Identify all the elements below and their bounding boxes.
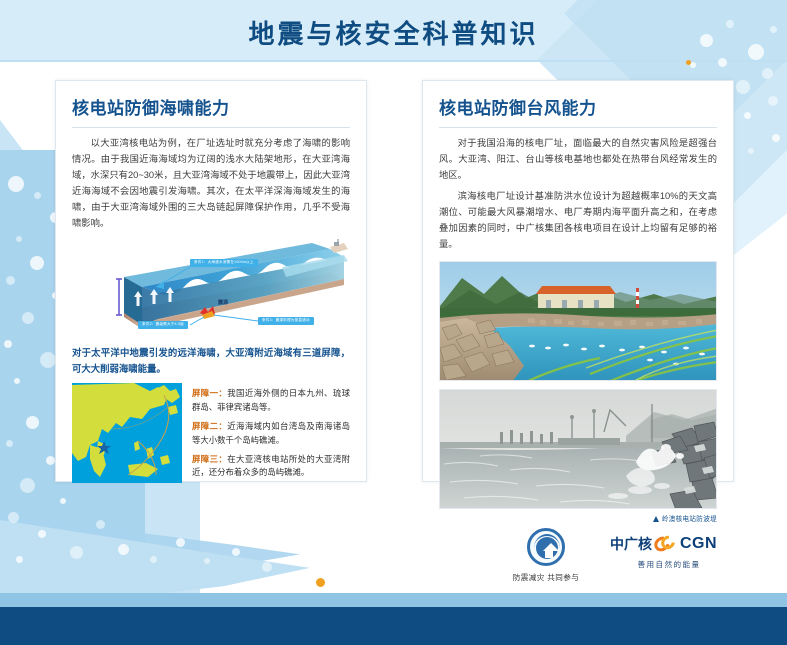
tsunami-epicentre-label: 震源: [218, 299, 228, 306]
barrier-item-1: 屏障一：我国近海外侧的日本九州、琉球群岛、菲律宾诸岛等。: [192, 387, 350, 414]
seal-slogan: 防震减灾 共同参与: [505, 572, 587, 583]
left-paragraph-1: 以大亚湾核电站为例，在厂址选址时就充分考虑了海啸的影响情况。由于我国近海海域均为…: [72, 136, 350, 232]
orange-dot-bottom: [316, 578, 325, 587]
left-highlight-text: 对于太平洋中地震引发的远洋海啸，大亚湾附近海域有三道屏障，可大大削弱海啸能量。: [72, 345, 350, 377]
barrier-2-label: 屏障二：: [192, 421, 227, 431]
photo1-svg: [440, 262, 717, 381]
poster-page: 地震与核安全科普知识 核电站防御海啸能力 以大亚湾核电站为例，在厂址选址时就充分…: [0, 0, 787, 645]
barrier-item-3: 屏障三：在大亚湾核电站所处的大亚湾附近，还分布着众多的岛屿礁滩。: [192, 453, 350, 480]
cgn-english-name: CGN: [680, 535, 717, 553]
right-title-divider: [439, 127, 717, 128]
tsunami-condition-2-label: 条件2：震级需大于6.5级: [138, 321, 188, 329]
cgn-chinese-name: 中广核: [610, 534, 652, 554]
tsunami-condition-1-label: 条件1：大海灌水深需在1000m以上: [190, 259, 258, 267]
right-paragraph-2: 滨海核电厂址设计基准防洪水位设计为超越概率10%的天文高潮位、可能最大风暴潮增水…: [439, 189, 717, 253]
cgn-logo-row: 中广核 CGN: [610, 534, 730, 554]
barrier-list: 屏障一：我国近海外侧的日本九州、琉球群岛、菲律宾诸岛等。 屏障二：近海海域内如台…: [192, 383, 350, 486]
left-panel-title: 核电站防御海啸能力: [72, 99, 350, 119]
left-title-divider: [72, 127, 350, 128]
cgn-logo: 中广核 CGN 善用自然的能量: [610, 534, 730, 570]
footer-logos: 防震减灾 共同参与 中广核 CGN 善用自然的能量: [505, 528, 730, 586]
photo2-svg: [440, 390, 717, 509]
page-title: 地震与核安全科普知识: [0, 14, 787, 51]
barrier-1-label: 屏障一：: [192, 388, 227, 398]
barrier-3-label: 屏障三：: [192, 454, 227, 464]
seal-outer-ring: [527, 528, 565, 566]
photo-caption-row: 岭澳核电站防波堤: [439, 513, 717, 523]
barrier-section: 屏障一：我国近海外侧的日本九州、琉球群岛、菲律宾诸岛等。 屏障二：近海海域内如台…: [72, 383, 350, 486]
house-icon: [543, 543, 559, 551]
east-asia-island-chain-map: [72, 383, 182, 483]
cgn-swoosh-icon: [654, 535, 678, 553]
triangle-bullet-icon: [653, 516, 659, 522]
tsunami-condition-3-label: 条件3：震源机理为垂直错动: [258, 317, 314, 325]
photo-breakwater-calm: [439, 261, 717, 381]
barrier-item-2: 屏障二：近海海域内如台湾岛及南海诸岛等大小数千个岛屿礁滩。: [192, 420, 350, 447]
panel-tsunami-defense: 核电站防御海啸能力 以大亚湾核电站为例，在厂址选址时就充分考虑了海啸的影响情况。…: [55, 80, 367, 482]
house-body-icon: [545, 551, 553, 558]
photo-caption-text: 岭澳核电站防波堤: [662, 516, 717, 523]
map-svg: [72, 383, 182, 483]
right-panel-title: 核电站防御台风能力: [439, 99, 717, 119]
photo-breakwater-storm: [439, 389, 717, 509]
tsunami-generation-diagram: 条件1：大海灌水深需在1000m以上 条件2：震级需大于6.5级 条件3：震源机…: [72, 237, 350, 339]
right-paragraph-1: 对于我国沿海的核电厂址，面临最大的自然灾害风险是超强台风。大亚湾、阳江、台山等核…: [439, 136, 717, 184]
cgn-slogan: 善用自然的能量: [610, 559, 728, 570]
earthquake-reduction-seal: 防震减灾 共同参与: [505, 528, 587, 584]
panel-typhoon-defense: 核电站防御台风能力 对于我国沿海的核电厂址，面临最大的自然灾害风险是超强台风。大…: [422, 80, 734, 482]
